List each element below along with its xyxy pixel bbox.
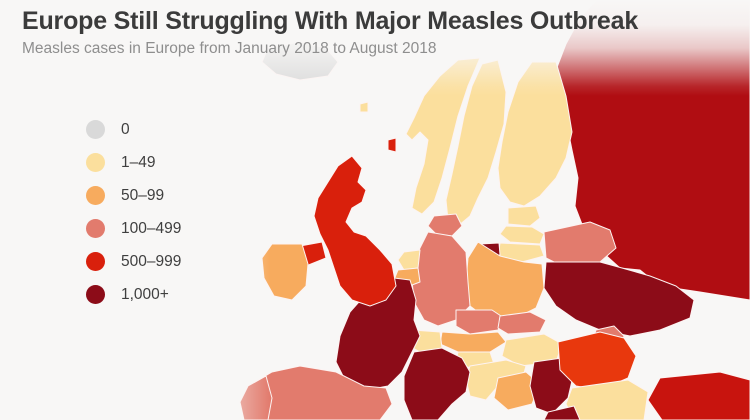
legend-item-label: 1,000+ xyxy=(121,285,169,304)
legend-item-label: 50–99 xyxy=(121,186,164,205)
legend-item: 1,000+ xyxy=(86,278,181,311)
region-italy xyxy=(404,348,470,420)
legend-item: 1–49 xyxy=(86,146,181,179)
legend-swatch-icon xyxy=(86,285,105,304)
region-united-kingdom xyxy=(314,156,396,306)
map-legend: 0 1–49 50–99 100–499 500–999 1,000+ xyxy=(86,113,181,311)
legend-item: 500–999 xyxy=(86,245,181,278)
region-slovakia xyxy=(498,312,546,334)
page-title: Europe Still Struggling With Major Measl… xyxy=(22,6,722,36)
region-austria xyxy=(440,332,506,352)
region-finland xyxy=(498,62,572,206)
legend-item-label: 0 xyxy=(121,120,130,139)
header: Europe Still Struggling With Major Measl… xyxy=(22,6,722,60)
legend-swatch-icon xyxy=(86,120,105,139)
region-faroe-islands xyxy=(360,102,368,112)
legend-item: 50–99 xyxy=(86,179,181,212)
infographic-measles-map: Europe Still Struggling With Major Measl… xyxy=(0,0,750,420)
region-netherlands xyxy=(398,250,420,270)
legend-swatch-icon xyxy=(86,186,105,205)
region-belarus xyxy=(544,222,616,268)
legend-item-label: 100–499 xyxy=(121,219,181,238)
legend-item: 100–499 xyxy=(86,212,181,245)
legend-swatch-icon xyxy=(86,219,105,238)
region-ireland xyxy=(262,244,308,300)
region-shetland xyxy=(388,138,396,152)
region-turkey xyxy=(648,372,750,420)
legend-swatch-icon xyxy=(86,252,105,271)
region-estonia xyxy=(508,206,540,226)
region-latvia xyxy=(500,226,544,244)
legend-item-label: 1–49 xyxy=(121,153,155,172)
legend-swatch-icon xyxy=(86,153,105,172)
legend-item-label: 500–999 xyxy=(121,252,181,271)
legend-item: 0 xyxy=(86,113,181,146)
region-portugal xyxy=(240,376,272,420)
region-czechia xyxy=(456,310,504,334)
page-subtitle: Measles cases in Europe from January 201… xyxy=(22,38,722,60)
